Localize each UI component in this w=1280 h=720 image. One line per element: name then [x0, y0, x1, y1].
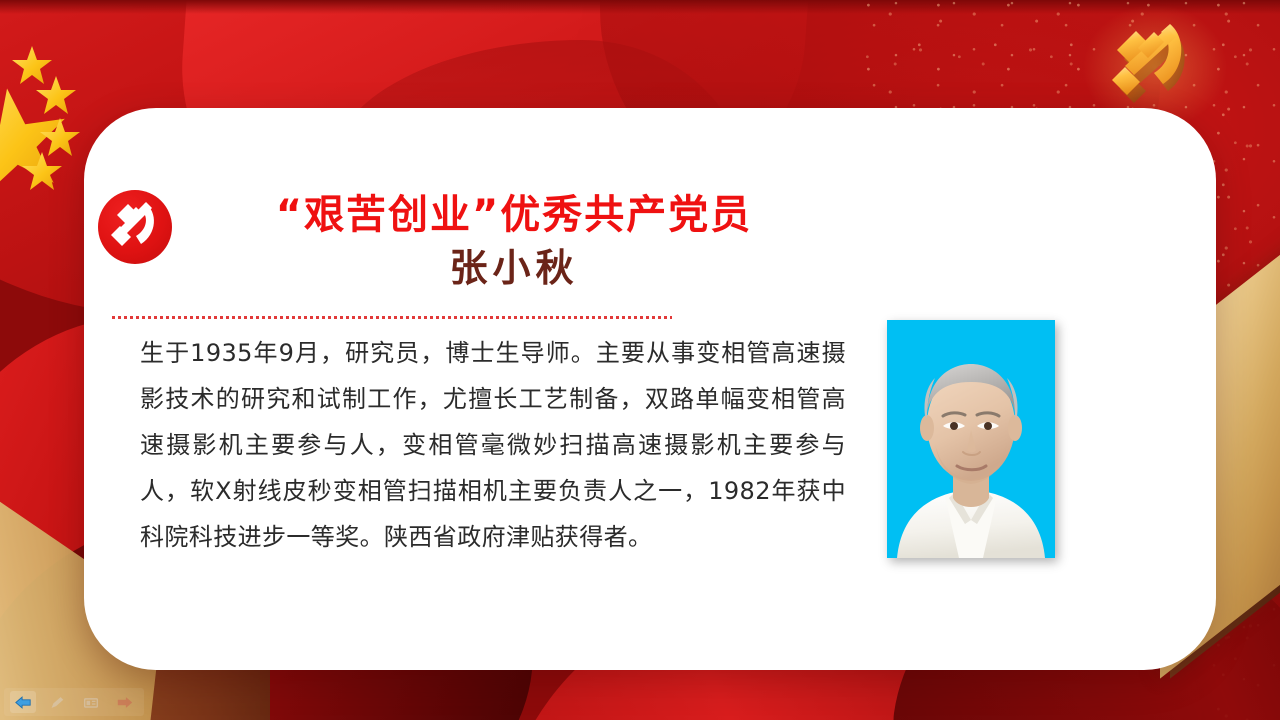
pen-icon	[48, 695, 66, 710]
biography-text: 生于1935年9月，研究员，博士生导师。主要从事变相管高速摄影技术的研究和试制工…	[140, 330, 846, 560]
presentation-slide: “艰苦创业”优秀共产党员 张小秋 生于1935年9月，研究员，博士生导师。主要从…	[0, 0, 1280, 720]
hammer-sickle-icon	[98, 190, 172, 264]
slideshow-controls[interactable]	[4, 688, 144, 716]
portrait-photo-zhang-xiaoqiu	[887, 320, 1055, 558]
person-name: 张小秋	[194, 243, 834, 292]
page-title: “艰苦创业”优秀共产党员	[194, 192, 834, 239]
hammer-sickle-icon	[1098, 18, 1208, 114]
portrait-image	[887, 320, 1055, 558]
pen-tool-button[interactable]	[44, 691, 70, 713]
next-slide-button[interactable]	[112, 691, 138, 713]
right-arrow-icon	[116, 695, 134, 710]
slide-menu-button[interactable]	[78, 691, 104, 713]
top-shade	[0, 0, 1280, 14]
previous-slide-button[interactable]	[10, 691, 36, 713]
party-emblem-gold	[1098, 18, 1208, 114]
title-block: “艰苦创业”优秀共产党员 张小秋	[194, 192, 834, 293]
party-emblem-badge	[98, 190, 172, 264]
content-card: “艰苦创业”优秀共产党员 张小秋 生于1935年9月，研究员，博士生导师。主要从…	[84, 108, 1216, 670]
menu-icon	[82, 695, 100, 710]
left-arrow-icon	[14, 695, 32, 710]
dotted-divider	[112, 316, 672, 319]
